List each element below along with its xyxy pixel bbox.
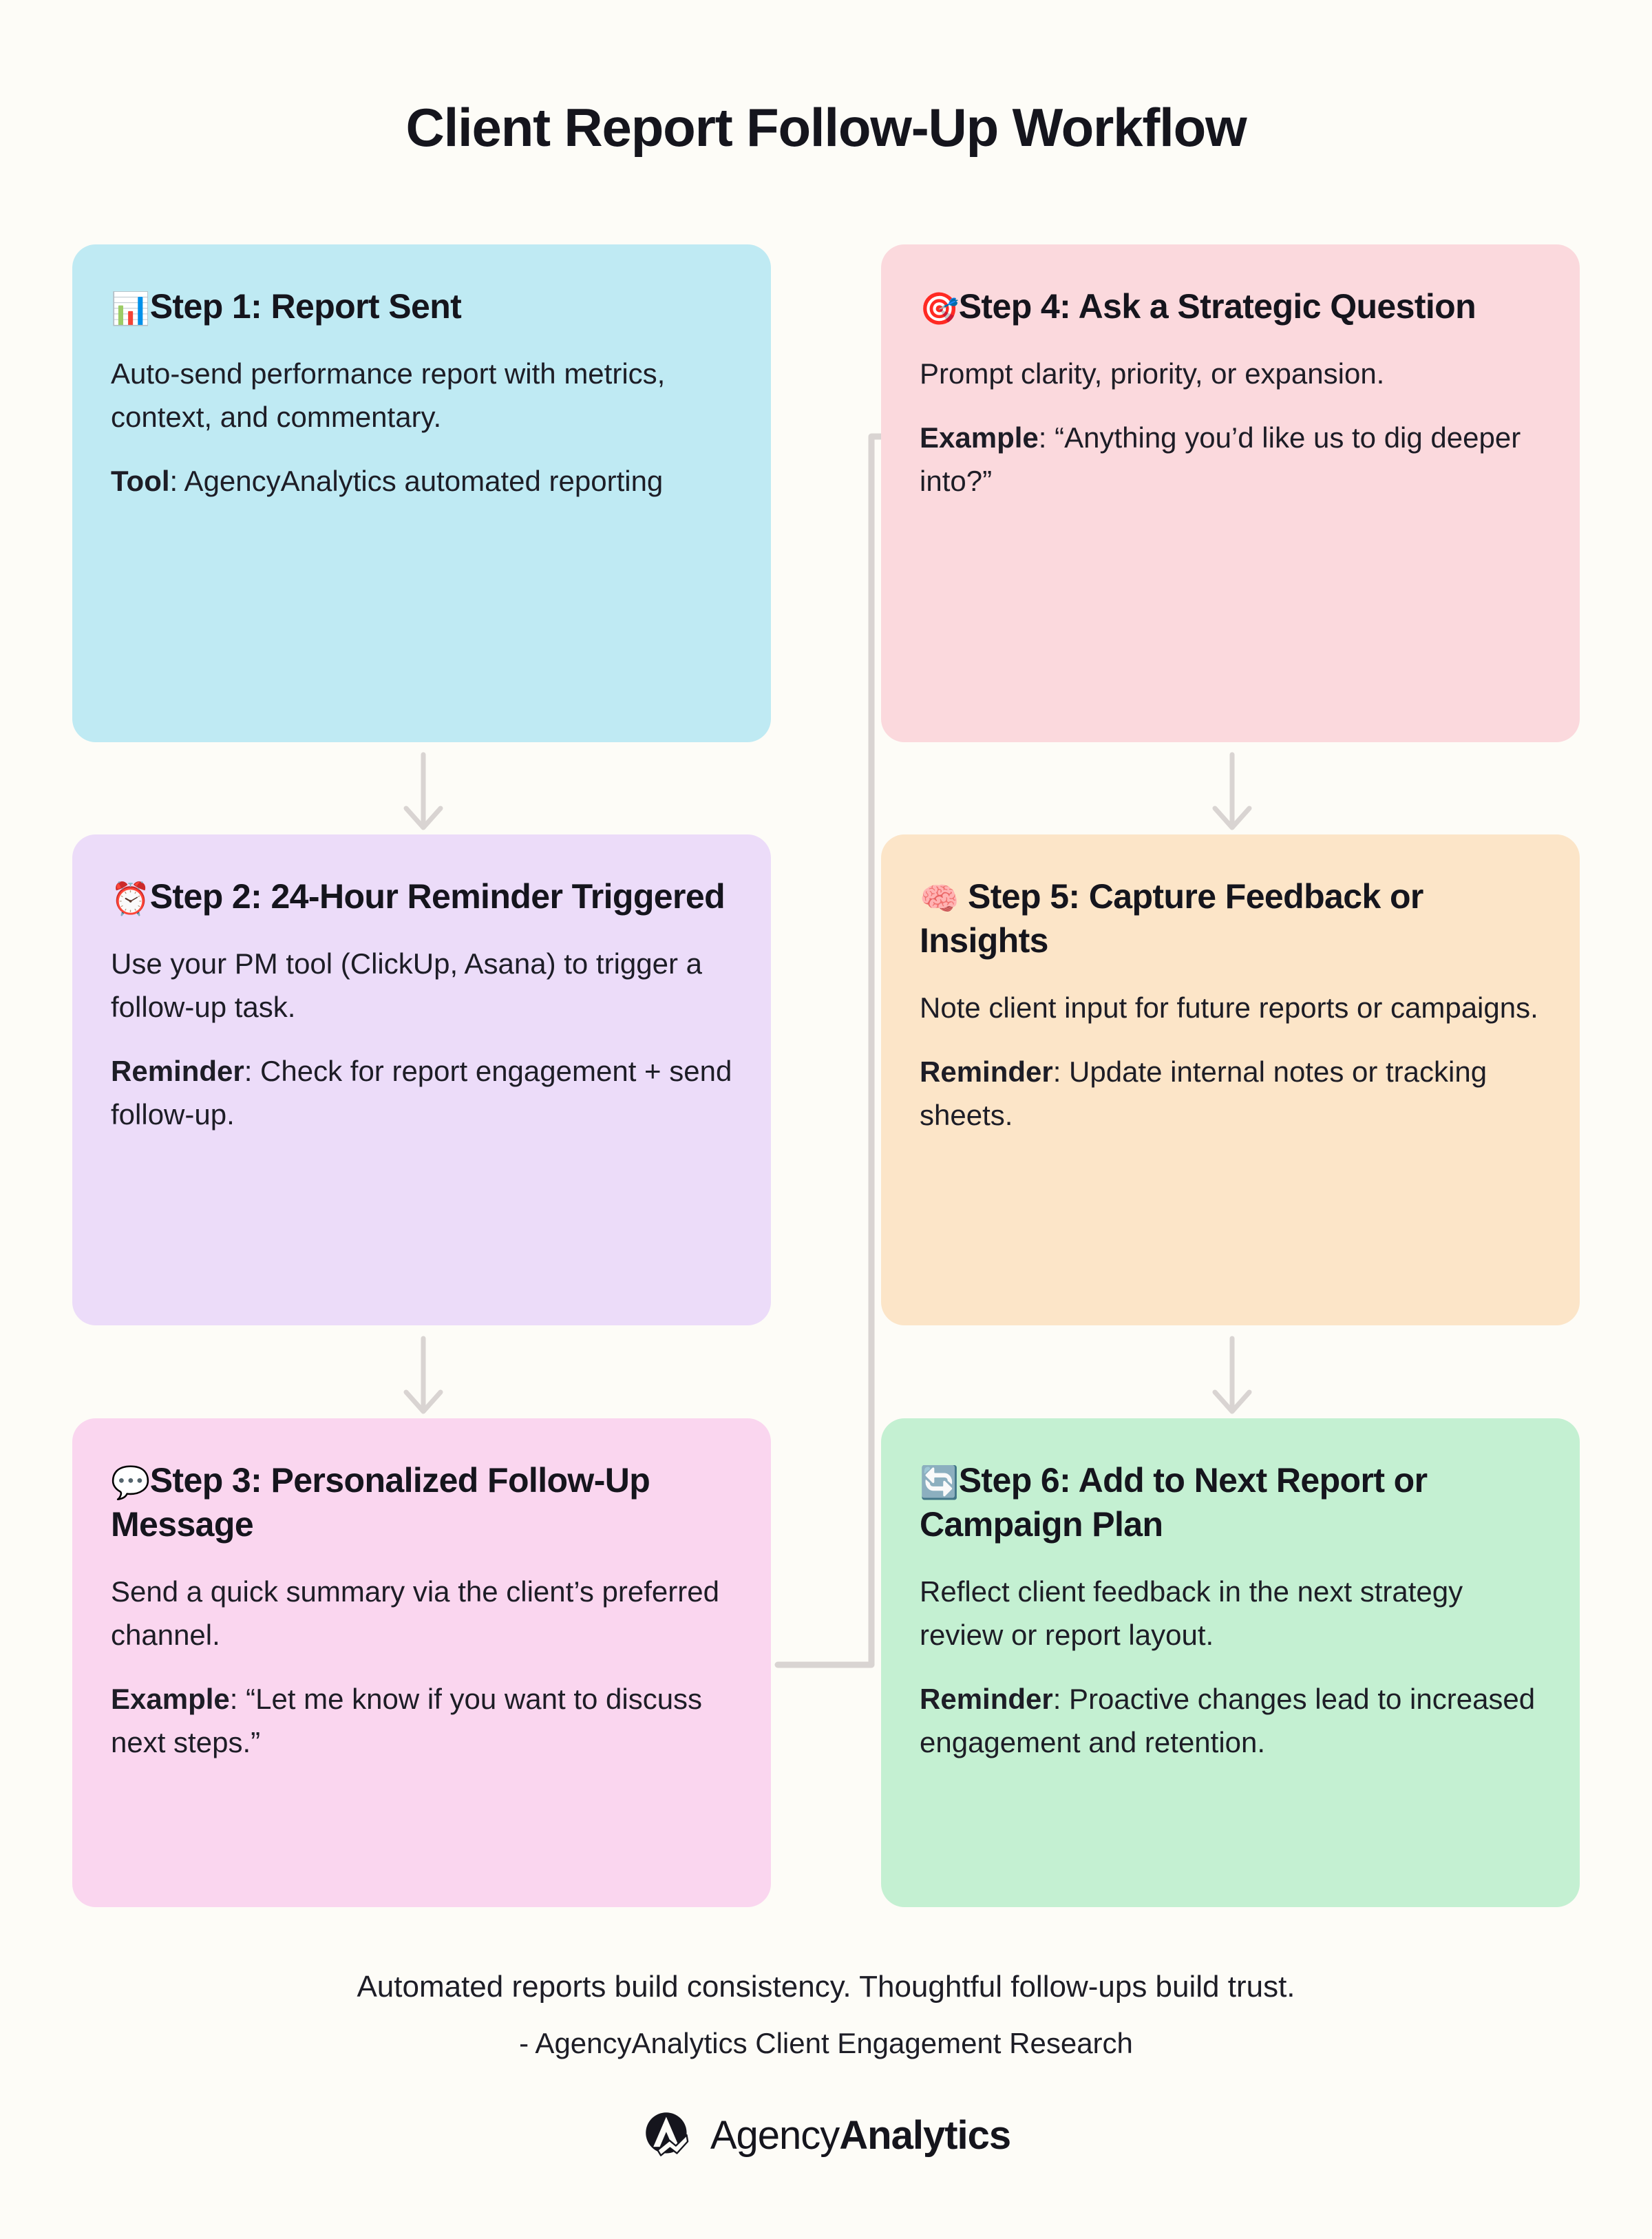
card-step-6-detail-label: Reminder (920, 1683, 1053, 1715)
connector-arrow-step1-to-step2 (392, 750, 454, 833)
brain-icon: 🧠 (920, 880, 959, 917)
card-step-1-heading-text: Step 1: Report Sent (150, 287, 462, 326)
refresh-cycle-icon: 🔄 (920, 1464, 959, 1501)
footer-quote: Automated reports build consistency. Tho… (0, 1966, 1652, 2008)
card-step-1-body: Auto-send performance report with metric… (111, 352, 732, 439)
card-step-6-detail: Reminder: Proactive changes lead to incr… (920, 1677, 1541, 1764)
card-step-1-detail: Tool: AgencyAnalytics automated reportin… (111, 459, 732, 503)
card-step-3-heading-text: Step 3: Personalized Follow-Up Message (111, 1461, 650, 1544)
card-step-2-body: Use your PM tool (ClickUp, Asana) to tri… (111, 942, 732, 1029)
card-step-1-detail-label: Tool (111, 465, 170, 497)
card-step-6: 🔄Step 6: Add to Next Report or Campaign … (881, 1418, 1580, 1907)
page-title: Client Report Follow-Up Workflow (0, 96, 1652, 159)
brand-logo: AgencyAnalytics (0, 2108, 1652, 2162)
card-step-6-heading: 🔄Step 6: Add to Next Report or Campaign … (920, 1458, 1541, 1546)
card-step-5-detail-label: Reminder (920, 1055, 1053, 1088)
agencyanalytics-logo-icon (642, 2108, 695, 2162)
card-step-3: 💬Step 3: Personalized Follow-Up Message … (72, 1418, 771, 1907)
card-step-5-detail: Reminder: Update internal notes or track… (920, 1050, 1541, 1137)
connector-arrow-step5-to-step6 (1201, 1334, 1263, 1417)
card-step-4-body: Prompt clarity, priority, or expansion. (920, 352, 1541, 395)
card-step-6-heading-text: Step 6: Add to Next Report or Campaign P… (920, 1461, 1427, 1544)
card-step-2-heading-text: Step 2: 24-Hour Reminder Triggered (150, 877, 725, 916)
card-step-3-body: Send a quick summary via the client’s pr… (111, 1570, 732, 1657)
card-step-3-detail: Example: “Let me know if you want to dis… (111, 1677, 732, 1764)
target-icon: 🎯 (920, 290, 959, 327)
card-step-4-heading: 🎯Step 4: Ask a Strategic Question (920, 284, 1541, 328)
card-step-1: 📊Step 1: Report Sent Auto-send performan… (72, 244, 771, 742)
card-step-4-detail: Example: “Anything you’d like us to dig … (920, 416, 1541, 503)
card-step-3-heading: 💬Step 3: Personalized Follow-Up Message (111, 1458, 732, 1546)
card-step-2-heading: ⏰Step 2: 24-Hour Reminder Triggered (111, 874, 732, 918)
footer: Automated reports build consistency. Tho… (0, 1966, 1652, 2063)
card-step-5-heading: 🧠 Step 5: Capture Feedback or Insights (920, 874, 1541, 963)
card-step-1-detail-text: : AgencyAnalytics automated reporting (170, 465, 664, 497)
alarm-clock-icon: ⏰ (111, 880, 150, 917)
card-step-1-heading: 📊Step 1: Report Sent (111, 284, 732, 328)
card-step-6-body: Reflect client feedback in the next stra… (920, 1570, 1541, 1657)
card-step-2-detail: Reminder: Check for report engagement + … (111, 1049, 732, 1136)
card-step-4: 🎯Step 4: Ask a Strategic Question Prompt… (881, 244, 1580, 742)
speech-balloon-icon: 💬 (111, 1464, 150, 1501)
card-step-5-heading-text: Step 5: Capture Feedback or Insights (920, 877, 1423, 960)
card-step-2-detail-label: Reminder (111, 1055, 244, 1087)
card-step-5: 🧠 Step 5: Capture Feedback or Insights N… (881, 834, 1580, 1325)
card-step-4-heading-text: Step 4: Ask a Strategic Question (959, 287, 1476, 326)
card-step-4-detail-label: Example (920, 421, 1039, 454)
brand-wordmark: AgencyAnalytics (710, 2112, 1010, 2158)
card-step-5-body: Note client input for future reports or … (920, 986, 1541, 1029)
connector-arrow-step2-to-step3 (392, 1334, 454, 1417)
card-step-3-detail-label: Example (111, 1683, 230, 1715)
brand-name-light: Agency (710, 2113, 839, 2158)
card-step-2: ⏰Step 2: 24-Hour Reminder Triggered Use … (72, 834, 771, 1325)
footer-attribution: - AgencyAnalytics Client Engagement Rese… (0, 2023, 1652, 2064)
connector-arrow-step4-to-step5 (1201, 750, 1263, 833)
brand-name-bold: Analytics (839, 2113, 1010, 2158)
bar-chart-icon: 📊 (111, 290, 150, 327)
